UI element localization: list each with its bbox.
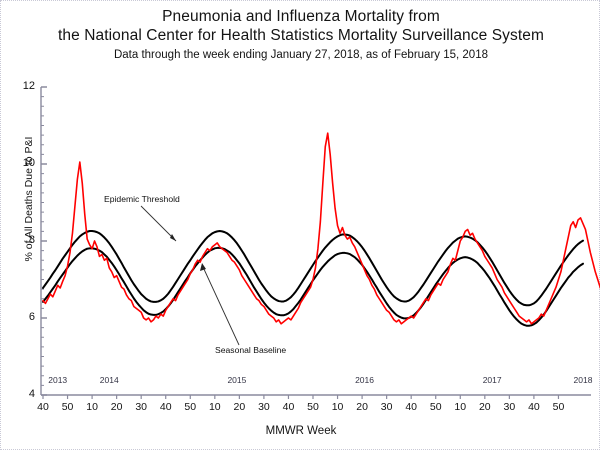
x-tick-label: 40 [156, 401, 176, 413]
annotation-epidemic-threshold: Epidemic Threshold [104, 194, 180, 204]
x-tick-label: 30 [254, 401, 274, 413]
x-tick-label: 50 [303, 401, 323, 413]
x-tick-label: 50 [58, 401, 78, 413]
epidemic-threshold-arrowhead [170, 234, 176, 241]
y-tick-label: 6 [9, 311, 35, 323]
x-tick-label: 50 [180, 401, 200, 413]
chart-page: Pneumonia and Influenza Mortality from t… [0, 0, 600, 450]
x-tick-label: 50 [548, 401, 568, 413]
x-tick-label: 40 [278, 401, 298, 413]
x-tick-label: 20 [475, 401, 495, 413]
x-tick-label: 40 [33, 401, 53, 413]
x-tick-label: 30 [377, 401, 397, 413]
x-tick-label: 40 [524, 401, 544, 413]
series-epidemic-threshold-line [43, 231, 583, 305]
x-tick-label: 30 [499, 401, 519, 413]
year-label: 2017 [475, 375, 509, 385]
x-tick-label: 10 [328, 401, 348, 413]
x-tick-label: 40 [401, 401, 421, 413]
y-tick-label: 10 [9, 157, 35, 169]
y-tick-label: 12 [9, 80, 35, 92]
epidemic-threshold-leader [141, 206, 176, 241]
plot-area [1, 1, 600, 451]
x-tick-label: 20 [229, 401, 249, 413]
year-label: 2013 [41, 375, 75, 385]
y-axis-title: % of All Deaths Due to P&I [23, 109, 35, 289]
x-tick-label: 50 [426, 401, 446, 413]
chart-svg [1, 1, 600, 451]
y-tick-label: 8 [9, 234, 35, 246]
seasonal-baseline-leader [203, 267, 239, 345]
year-label: 2018 [566, 375, 600, 385]
x-tick-label: 20 [107, 401, 127, 413]
x-tick-label: 10 [205, 401, 225, 413]
x-tick-label: 10 [82, 401, 102, 413]
x-tick-label: 20 [352, 401, 372, 413]
year-label: 2014 [92, 375, 126, 385]
x-axis-title: MMWR Week [1, 425, 600, 437]
year-label: 2015 [220, 375, 254, 385]
seasonal-baseline-arrowhead [200, 263, 206, 271]
year-label: 2016 [348, 375, 382, 385]
y-tick-label: 4 [9, 388, 35, 400]
series-observed-line [43, 133, 600, 345]
x-tick-label: 30 [131, 401, 151, 413]
x-tick-label: 10 [450, 401, 470, 413]
annotation-seasonal-baseline: Seasonal Baseline [215, 345, 286, 355]
